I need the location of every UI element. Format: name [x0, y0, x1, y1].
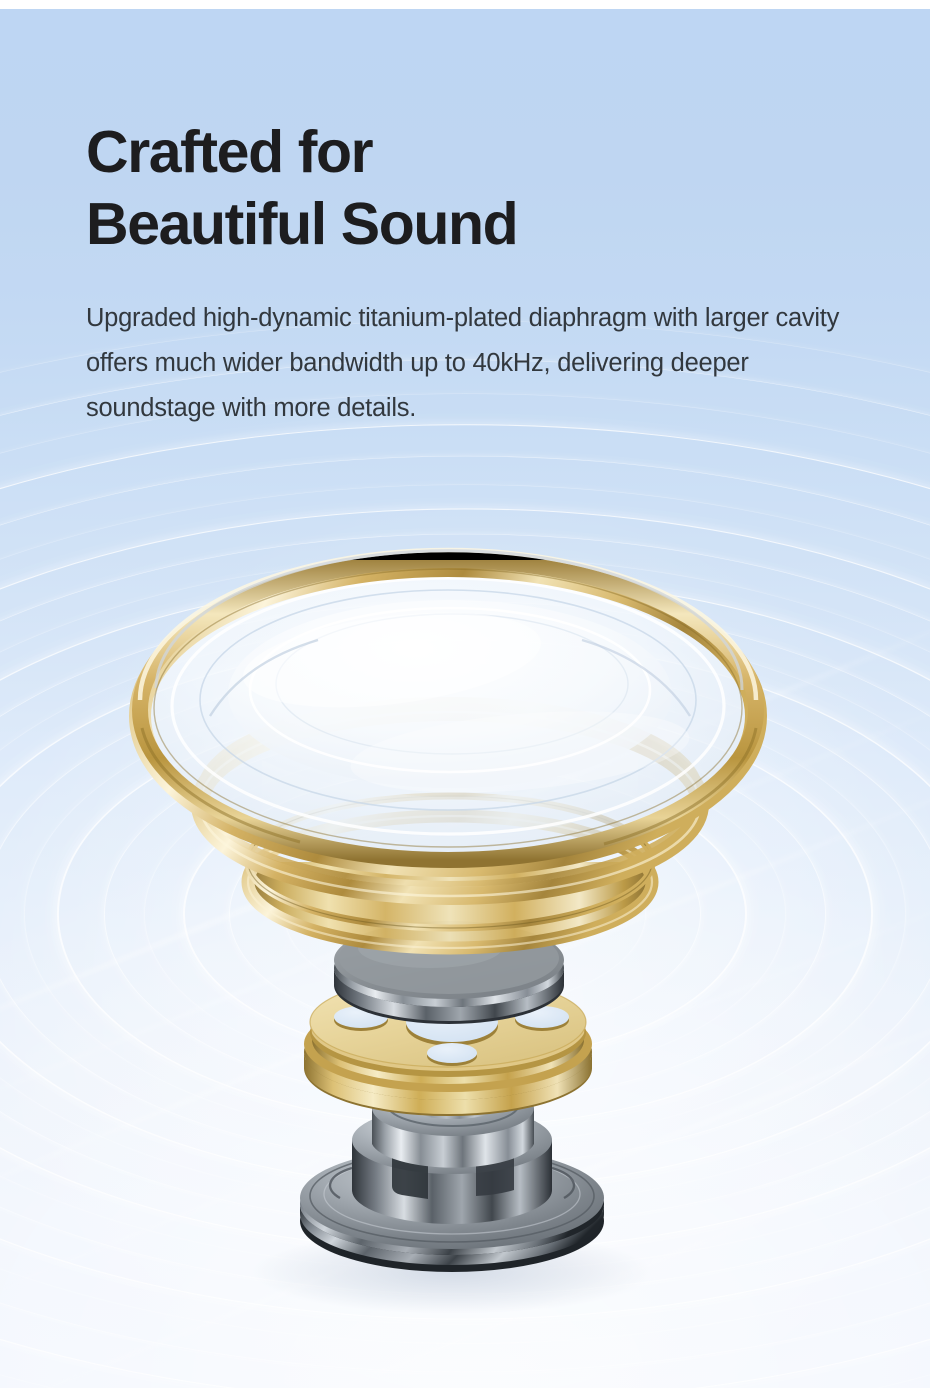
top-white-strip — [0, 0, 930, 9]
hero-copy: Crafted for Beautiful Sound Upgraded hig… — [86, 9, 886, 431]
headline-line-2: Beautiful Sound — [86, 188, 886, 260]
page-title: Crafted for Beautiful Sound — [86, 9, 886, 260]
hero-description: Upgraded high-dynamic titanium-plated di… — [86, 260, 856, 431]
product-feature-page: Crafted for Beautiful Sound Upgraded hig… — [0, 0, 930, 1388]
headline-line-1: Crafted for — [86, 119, 372, 185]
